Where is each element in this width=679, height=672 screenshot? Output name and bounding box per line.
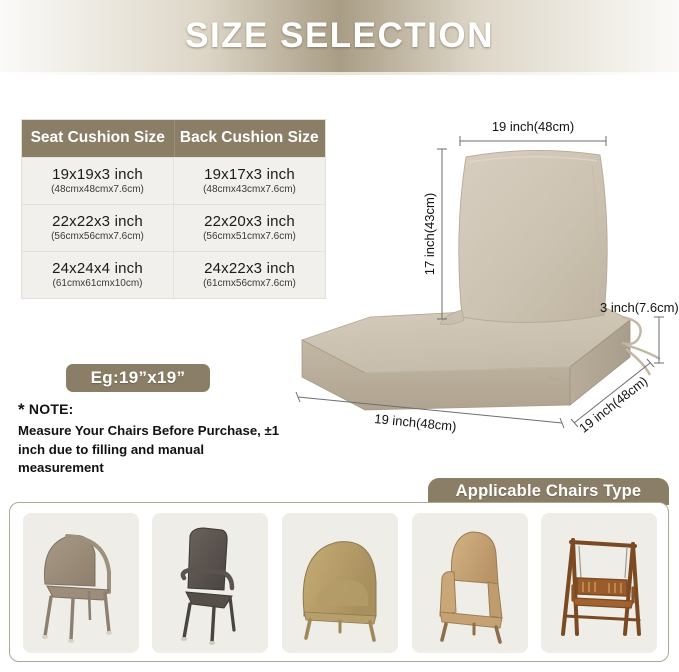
- woven-armchair-icon: [418, 520, 522, 646]
- applicable-chairs-label: Applicable Chairs Type: [456, 482, 642, 501]
- chair-tile-round-back-wicker-armchair: [23, 513, 139, 653]
- cushion-diagram: 19 inch(48cm) 17 inch(43cm) 3 inch(7.6cm…: [270, 105, 679, 475]
- note-heading-label: NOTE:: [29, 401, 74, 417]
- cell-seat-size-1: 19x19x3 inch (48cmx48cmx7.6cm): [22, 158, 174, 205]
- dim-thickness-label: 3 inch(7.6cm): [600, 300, 679, 315]
- chairs-row: [10, 503, 670, 663]
- cell-seat-size-2: 22x22x3 inch (56cmx56cmx7.6cm): [22, 205, 174, 252]
- example-size-label: Eg:19”x19”: [91, 368, 186, 388]
- seat-size-inch-1: 19x19x3 inch: [24, 166, 171, 183]
- seat-size-cm-3: (61cmx61cmx10cm): [24, 278, 171, 289]
- dimension-back-width: 19 inch(48cm): [460, 119, 606, 146]
- header-underline: [0, 72, 679, 75]
- seat-size-cm-1: (48cmx48cmx7.6cm): [24, 184, 171, 195]
- wooden-porch-swing-icon: [547, 520, 651, 646]
- chair-tile-wooden-porch-swing: [541, 513, 657, 653]
- dim-seat-front-label: 19 inch(48cm): [374, 411, 457, 434]
- back-cushion-illustration: [440, 150, 607, 324]
- barrel-wicker-tub-chair-icon: [288, 520, 392, 646]
- dimension-back-height: 17 inch(43cm): [422, 149, 447, 319]
- dim-back-height-label: 17 inch(43cm): [422, 193, 437, 275]
- header-banner: SIZE SELECTION: [0, 0, 679, 72]
- seat-cushion-illustration: [302, 305, 630, 410]
- chair-tile-barrel-wicker-tub-chair: [282, 513, 398, 653]
- note-block: * NOTE: Measure Your Chairs Before Purch…: [18, 400, 308, 478]
- applicable-chairs-tab: Applicable Chairs Type: [428, 478, 669, 505]
- high-back-wicker-armchair-icon: [158, 520, 262, 646]
- seat-size-inch-3: 24x24x4 inch: [24, 260, 171, 277]
- example-size-badge: Eg:19”x19”: [66, 364, 210, 392]
- round-back-wicker-armchair-icon: [29, 520, 133, 646]
- note-heading: * NOTE:: [18, 400, 308, 420]
- column-header-seat-cushion-size: Seat Cushion Size: [22, 120, 174, 158]
- cell-seat-size-3: 24x24x4 inch (61cmx61cmx10cm): [22, 252, 174, 299]
- seat-size-inch-2: 22x22x3 inch: [24, 213, 171, 230]
- applicable-chairs-panel: [9, 502, 669, 662]
- chair-tile-high-back-wicker-armchair: [152, 513, 268, 653]
- asterisk-icon: *: [18, 400, 25, 419]
- seat-size-cm-2: (56cmx56cmx7.6cm): [24, 231, 171, 242]
- chair-tile-woven-armchair: [412, 513, 528, 653]
- page-title: SIZE SELECTION: [185, 16, 494, 56]
- note-text: Measure Your Chairs Before Purchase, ±1 …: [18, 422, 293, 478]
- dim-back-width-label: 19 inch(48cm): [492, 119, 574, 134]
